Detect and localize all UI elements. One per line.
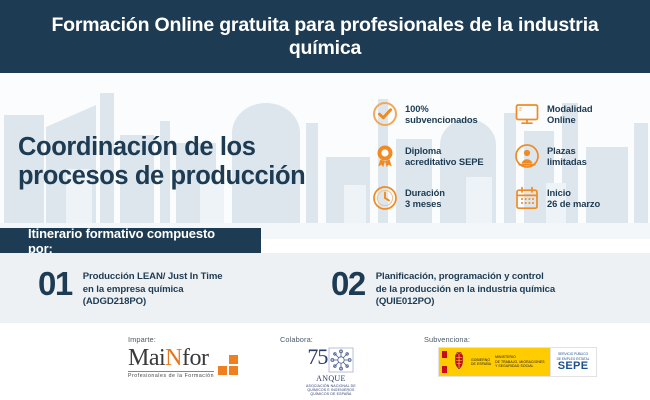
- anque-wordmark: ANQUE: [316, 374, 346, 383]
- colabora-block: Colabora: 75: [280, 335, 356, 397]
- monitor-icon: [514, 101, 540, 127]
- award-medal-icon: [372, 143, 398, 169]
- module-item-02: 02 Planificación, programación y control…: [331, 267, 631, 309]
- itinerary-ribbon: Itinerario formativo compuesto por:: [0, 228, 261, 253]
- promo-poster: Formación Online gratuita para profesion…: [0, 0, 650, 400]
- header-title: Formación Online gratuita para profesion…: [0, 14, 650, 60]
- mainfor-logo: MaiNfor Profesionales de la Formación: [128, 347, 238, 379]
- calendar-icon: [514, 185, 540, 211]
- check-circle-icon: [372, 101, 398, 127]
- module-title: Producción LEAN/ Just In Time en la empr…: [83, 271, 223, 296]
- mainfor-word-b: for: [182, 345, 208, 371]
- feature-label: 100% subvencionados: [405, 103, 478, 126]
- subvenciona-label: Subvenciona:: [424, 335, 597, 344]
- features-grid: 100% subvencionados Modalidad Online: [372, 101, 644, 211]
- sepe-wordmark: SEPE: [558, 361, 589, 372]
- feature-label: Duración 3 meses: [405, 187, 445, 210]
- gobierno-label: GOBIERNO DE ESPAÑA: [471, 358, 491, 367]
- feature-item-duration: Duración 3 meses: [372, 185, 502, 211]
- government-sepe-logo-bar: GOBIERNO DE ESPAÑA MINISTERIO DE TRABAJO…: [438, 347, 597, 377]
- module-code: (ADGD218PO): [83, 296, 223, 309]
- footer-logos: Imparte: MaiNfor Profesionales de la For…: [0, 323, 650, 400]
- mainfor-word-accent: N: [165, 345, 182, 371]
- colabora-label: Colabora:: [280, 335, 356, 344]
- feature-label: Plazas limitadas: [547, 145, 587, 168]
- module-title: Planificación, programación y control de…: [376, 271, 555, 296]
- feature-label: Diploma acreditativo SEPE: [405, 145, 484, 168]
- flag-bar-icon: [442, 351, 447, 373]
- page-title-line-2: procesos de producción: [18, 162, 305, 190]
- page-title: Coordinación de los procesos de producci…: [18, 133, 305, 191]
- subvenciona-block: Subvenciona: GOBIERNO DE ESPAÑA MINISTER…: [424, 335, 597, 377]
- anque-subtitle: ASOCIACIÓN NACIONAL DE QUÍMICOS E INGENI…: [306, 384, 356, 397]
- page-title-line-1: Coordinación de los: [18, 133, 256, 161]
- feature-item-subsidized: 100% subvencionados: [372, 101, 502, 127]
- clock-icon: [372, 185, 398, 211]
- feature-label: Inicio 26 de marzo: [547, 187, 600, 210]
- module-item-01: 01 Producción LEAN/ Just In Time en la e…: [38, 267, 323, 309]
- feature-item-start-date: Inicio 26 de marzo: [514, 185, 644, 211]
- mainfor-wordmark: MaiNfor: [128, 347, 214, 370]
- modules-band: 01 Producción LEAN/ Just In Time en la e…: [0, 253, 650, 323]
- hero-section: Coordinación de los procesos de producci…: [0, 73, 650, 239]
- mainfor-squares-mark: [218, 355, 238, 375]
- module-code: (QUIE012PO): [376, 296, 555, 309]
- ministerio-label: MINISTERIO DE TRABAJO, MIGRACIONES Y SEG…: [495, 355, 545, 368]
- feature-item-online: Modalidad Online: [514, 101, 644, 127]
- person-seat-icon: [514, 143, 540, 169]
- feature-label: Modalidad Online: [547, 103, 592, 126]
- imparte-label: Imparte:: [128, 335, 238, 344]
- sepe-logo: SERVICIO PÚBLICO DE EMPLEO ESTATAL SEPE: [550, 348, 596, 376]
- mainfor-word-a: Mai: [128, 345, 165, 371]
- anque-logo: 75 ANQUE: [306, 347, 356, 397]
- itinerary-ribbon-label: Itinerario formativo compuesto por:: [28, 226, 243, 256]
- anque-emblem-icon: [328, 347, 354, 373]
- imparte-block: Imparte: MaiNfor Profesionales de la For…: [128, 335, 238, 379]
- module-number: 01: [38, 269, 72, 299]
- feature-item-diploma: Diploma acreditativo SEPE: [372, 143, 502, 169]
- gobierno-de-espana-logo: GOBIERNO DE ESPAÑA MINISTERIO DE TRABAJO…: [439, 348, 550, 376]
- mainfor-tagline: Profesionales de la Formación: [128, 371, 214, 380]
- feature-item-limited-seats: Plazas limitadas: [514, 143, 644, 169]
- coat-of-arms-icon: [451, 352, 467, 372]
- module-number: 02: [331, 269, 365, 299]
- anque-anniversary-number: 75: [307, 347, 327, 367]
- header-band: Formación Online gratuita para profesion…: [0, 0, 650, 73]
